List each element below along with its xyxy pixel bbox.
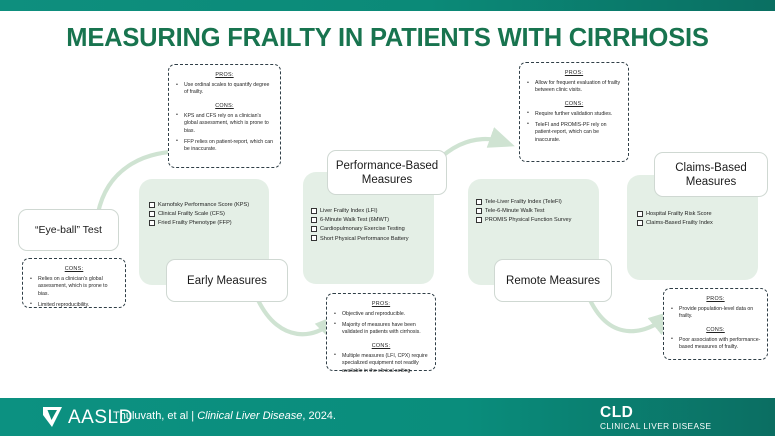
page-title: MEASURING FRAILTY IN PATIENTS WITH CIRRH… bbox=[0, 24, 775, 53]
callout-cons-label: CONS: bbox=[29, 266, 119, 272]
callout-pros-item: Provide population-level data on frailty… bbox=[670, 306, 761, 321]
callout-claims: PROS: Provide population-level data on f… bbox=[663, 288, 768, 360]
stage-items-claims: Hospital Frailty Risk Score Claims-Based… bbox=[637, 210, 761, 228]
callout-pros-list: Use ordinal scales to quantify degree of… bbox=[175, 82, 274, 97]
callout-cons-list: Poor association with performance-based … bbox=[670, 337, 761, 352]
callout-cons-item: Relies on a clinician's global assessmen… bbox=[29, 276, 119, 298]
checkbox-icon bbox=[149, 220, 155, 226]
stage-card-claims[interactable]: Claims-Based Measures bbox=[654, 152, 768, 197]
callout-early: PROS: Use ordinal scales to quantify deg… bbox=[168, 64, 281, 168]
list-item: 6-Minute Walk Test (6MWT) bbox=[311, 216, 435, 225]
checkbox-icon bbox=[637, 220, 643, 226]
citation-journal: Clinical Liver Disease bbox=[197, 410, 302, 422]
list-item: Liver Frailty Index (LFI) bbox=[311, 207, 435, 216]
checkbox-icon bbox=[476, 217, 482, 223]
checkbox-icon bbox=[311, 226, 317, 232]
stage-items-remote: Tele-Liver Frailty Index (TeleFI) Tele-6… bbox=[476, 198, 600, 226]
cld-full-name: CLINICAL LIVER DISEASE bbox=[600, 421, 712, 431]
callout-pros-list: Objective and reproducible. Majority of … bbox=[333, 311, 429, 337]
list-item: Karnofsky Performance Score (KPS) bbox=[149, 201, 271, 210]
checkbox-icon bbox=[476, 208, 482, 214]
list-item: Claims-Based Frailty Index bbox=[637, 219, 761, 228]
callout-pros-list: Allow for frequent evaluation of frailty… bbox=[526, 80, 622, 95]
callout-cons-item: Poor association with performance-based … bbox=[670, 337, 761, 352]
stage-items-early: Karnofsky Performance Score (KPS) Clinic… bbox=[149, 201, 271, 229]
cld-abbreviation: CLD bbox=[600, 405, 712, 421]
checkbox-icon bbox=[311, 217, 317, 223]
checkbox-icon bbox=[476, 199, 482, 205]
list-item: Clinical Frailty Scale (CFS) bbox=[149, 210, 271, 219]
list-item: Fried Frailty Phenotype (FFP) bbox=[149, 219, 271, 228]
citation-year: , 2024. bbox=[302, 410, 336, 422]
callout-cons-label: CONS: bbox=[175, 103, 274, 109]
callout-remote: PROS: Allow for frequent evaluation of f… bbox=[519, 62, 629, 162]
footer-bar: AASLD Thuluvath, et al | Clinical Liver … bbox=[0, 398, 775, 436]
callout-cons-list: Multiple measures (LFI, CPX) require spe… bbox=[333, 353, 429, 375]
callout-pros-item: Allow for frequent evaluation of frailty… bbox=[526, 80, 622, 95]
checkbox-icon bbox=[311, 235, 317, 241]
list-item: PROMIS Physical Function Survey bbox=[476, 216, 600, 225]
callout-cons-item: FFP relies on patient-report, which can … bbox=[175, 139, 274, 154]
callout-cons-item: Limited reproducibility. bbox=[29, 302, 119, 309]
callout-cons-list: Relies on a clinician's global assessmen… bbox=[29, 276, 119, 309]
stage-card-eyeball[interactable]: “Eye-ball” Test bbox=[18, 209, 119, 251]
list-item: Tele-Liver Frailty Index (TeleFI) bbox=[476, 198, 600, 207]
callout-pros-item: Objective and reproducible. bbox=[333, 311, 429, 318]
callout-cons-item: TeleFI and PROMIS-PF rely on patient-rep… bbox=[526, 122, 622, 144]
stage-card-performance[interactable]: Performance-Based Measures bbox=[327, 150, 447, 195]
callout-pros-list: Provide population-level data on frailty… bbox=[670, 306, 761, 321]
callout-pros-label: PROS: bbox=[175, 72, 274, 78]
checkbox-icon bbox=[149, 202, 155, 208]
callout-cons-label: CONS: bbox=[526, 101, 622, 107]
callout-cons-list: KPS and CFS rely on a clinician's global… bbox=[175, 113, 274, 154]
callout-cons-item: KPS and CFS rely on a clinician's global… bbox=[175, 113, 274, 135]
callout-pros-label: PROS: bbox=[333, 301, 429, 307]
checkbox-icon bbox=[311, 208, 317, 214]
top-accent-bar bbox=[0, 0, 775, 11]
cld-branding: CLD CLINICAL LIVER DISEASE bbox=[600, 405, 712, 431]
checkbox-icon bbox=[637, 211, 643, 217]
callout-pros-label: PROS: bbox=[526, 70, 622, 76]
citation-authors: Thuluvath, et al | bbox=[113, 410, 197, 422]
list-item: Cardiopulmonary Exercise Testing bbox=[311, 225, 435, 234]
callout-eyeball: CONS: Relies on a clinician's global ass… bbox=[22, 258, 126, 308]
callout-pros-item: Use ordinal scales to quantify degree of… bbox=[175, 82, 274, 97]
stage-card-label: Early Measures bbox=[187, 274, 267, 288]
callout-pros-item: Majority of measures have been validated… bbox=[333, 322, 429, 337]
callout-cons-item: Multiple measures (LFI, CPX) require spe… bbox=[333, 353, 429, 375]
checkbox-icon bbox=[149, 211, 155, 217]
callout-pros-label: PROS: bbox=[670, 296, 761, 302]
callout-performance: PROS: Objective and reproducible. Majori… bbox=[326, 293, 436, 371]
stage-card-label: Claims-Based Measures bbox=[659, 161, 763, 189]
callout-cons-item: Require further validation studies. bbox=[526, 111, 622, 118]
stage-card-remote[interactable]: Remote Measures bbox=[494, 259, 612, 302]
callout-cons-label: CONS: bbox=[670, 327, 761, 333]
list-item: Tele-6-Minute Walk Test bbox=[476, 207, 600, 216]
stage-card-label: Remote Measures bbox=[506, 274, 600, 288]
stage-card-label: Performance-Based Measures bbox=[332, 159, 442, 187]
aasld-logo-icon bbox=[42, 406, 66, 428]
stage-card-early[interactable]: Early Measures bbox=[166, 259, 288, 302]
stage-items-performance: Liver Frailty Index (LFI) 6-Minute Walk … bbox=[311, 207, 435, 244]
callout-cons-label: CONS: bbox=[333, 343, 429, 349]
list-item: Hospital Frailty Risk Score bbox=[637, 210, 761, 219]
stage-card-label: “Eye-ball” Test bbox=[35, 223, 102, 237]
citation: Thuluvath, et al | Clinical Liver Diseas… bbox=[113, 410, 336, 422]
callout-cons-list: Require further validation studies. Tele… bbox=[526, 111, 622, 144]
list-item: Short Physical Performance Battery bbox=[311, 235, 435, 244]
